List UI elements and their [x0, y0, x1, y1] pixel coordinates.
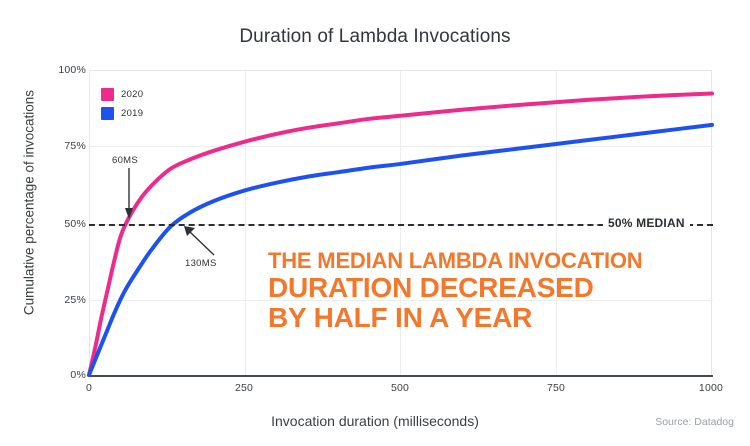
legend-swatch-icon — [101, 107, 114, 120]
legend-item-2020[interactable]: 2020 — [101, 88, 143, 101]
y-tick-25: 25% — [8, 294, 86, 306]
y-tick-100: 100% — [8, 64, 86, 76]
callout-line-2: DURATION DECREASED — [268, 273, 708, 303]
x-tick-250: 250 — [235, 382, 253, 394]
y-axis-label: Cumulative percentage of invocations — [22, 53, 37, 353]
x-tick-1000: 1000 — [699, 382, 723, 394]
y-tick-0: 0% — [8, 369, 86, 381]
callout-line-3: BY HALF IN A YEAR — [268, 303, 708, 333]
page-title: Duration of Lambda Invocations — [0, 26, 750, 48]
legend-item-2019[interactable]: 2019 — [101, 107, 143, 120]
x-tick-0: 0 — [86, 382, 92, 394]
x-axis-label: Invocation duration (milliseconds) — [0, 413, 750, 429]
annotation-60ms: 60MS — [112, 155, 138, 166]
chart-figure: Duration of Lambda Invocations 100% 75% … — [0, 0, 750, 446]
x-tick-500: 500 — [391, 382, 409, 394]
gridline-75 — [90, 146, 713, 147]
y-tick-75: 75% — [8, 140, 86, 152]
x-tick-750: 750 — [547, 382, 565, 394]
callout-block: THE MEDIAN LAMBDA INVOCATION DURATION DE… — [268, 248, 708, 333]
y-tick-50: 50% — [8, 218, 86, 230]
legend-swatch-icon — [101, 88, 114, 101]
source-note: Source: Datadog — [655, 416, 734, 428]
legend: 2020 2019 — [101, 88, 143, 120]
legend-item-label: 2019 — [121, 108, 143, 119]
x-axis-line — [89, 375, 713, 377]
y-axis-ticks: 100% 75% 50% 25% 0% — [0, 0, 86, 446]
legend-item-label: 2020 — [121, 89, 143, 100]
annotation-130ms: 130MS — [185, 258, 217, 269]
callout-line-1: THE MEDIAN LAMBDA INVOCATION — [268, 248, 708, 273]
median-label: 50% MEDIAN — [603, 216, 690, 230]
